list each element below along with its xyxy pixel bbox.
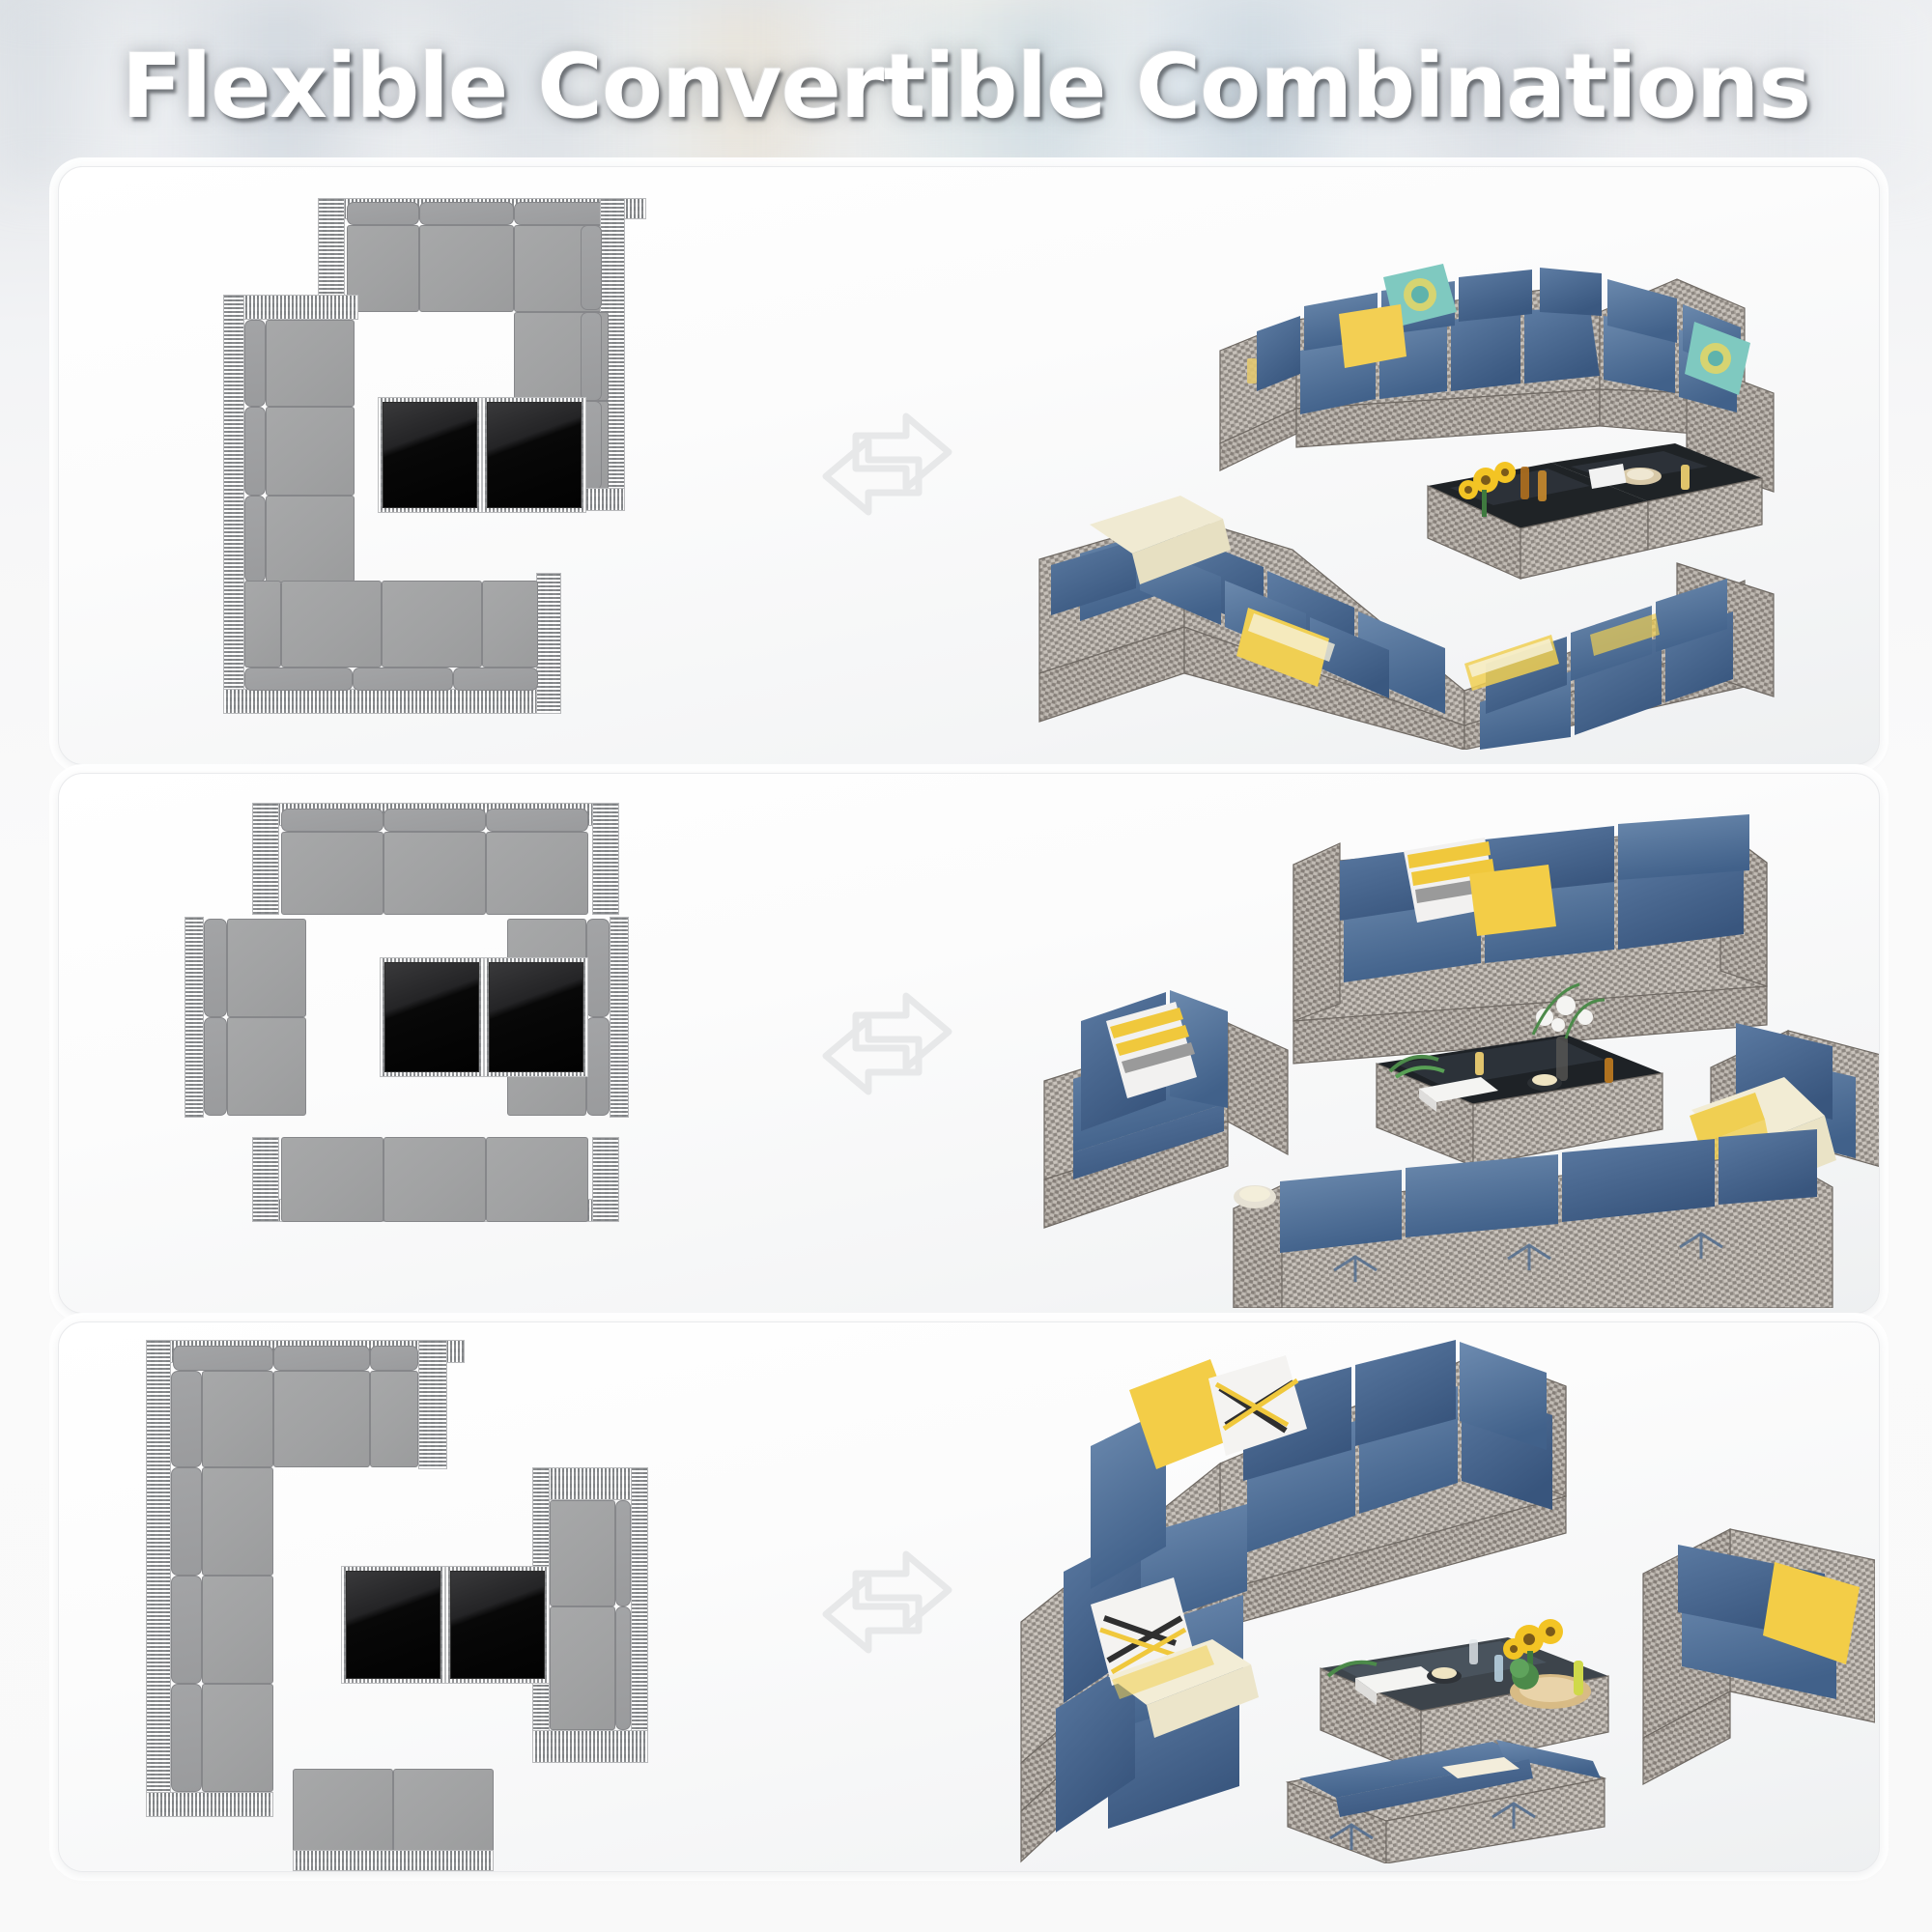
wicker-rail (146, 1340, 171, 1815)
back-cushion (281, 809, 384, 832)
wicker-rail (293, 1850, 494, 1871)
coffee-table-frame (482, 397, 586, 513)
coffee-table-frame (378, 397, 482, 513)
ottoman-cushion (393, 1769, 494, 1854)
glass-tabletop (384, 962, 479, 1072)
back-cushion (453, 668, 538, 691)
back-cushion (370, 1346, 418, 1371)
back-cushion (273, 1346, 370, 1371)
back-cushion (586, 919, 610, 1017)
seat-cushion (227, 1017, 306, 1116)
back-cushion (615, 1500, 631, 1606)
coffee-table-frame (445, 1566, 550, 1684)
wicker-rail (532, 1730, 648, 1763)
back-cushion (347, 202, 419, 225)
seat-cushion (281, 581, 382, 668)
wicker-rail (223, 295, 244, 714)
ottoman-cushion (293, 1769, 393, 1854)
glass-tabletop (450, 1571, 545, 1679)
wicker-rail (631, 1467, 648, 1763)
back-cushion (581, 225, 602, 310)
seat-cushion (382, 581, 482, 668)
glass-tabletop (487, 402, 582, 508)
wicker-rail (185, 917, 204, 1118)
seat-cushion (281, 832, 384, 915)
combination-panel-1 (58, 166, 1880, 765)
seat-cushion (550, 1500, 615, 1606)
wicker-rail (592, 1137, 619, 1222)
product-photo-four-side (986, 781, 1880, 1308)
page-title: Flexible Convertible Combinations (0, 35, 1932, 138)
wicker-rail (252, 1137, 279, 1222)
back-cushion (581, 312, 602, 401)
seat-cushion (227, 919, 306, 1017)
wicker-rail (146, 1792, 273, 1817)
wicker-rail (418, 1340, 447, 1469)
back-cushion (204, 919, 227, 1017)
seat-cushion (266, 496, 355, 582)
back-cushion (419, 202, 514, 225)
glass-tabletop (489, 962, 583, 1072)
two-way-exchange-arrow-icon (817, 1547, 957, 1658)
glass-tabletop (346, 1571, 440, 1679)
back-cushion (244, 668, 353, 691)
seat-cushion (266, 320, 355, 407)
two-way-exchange-arrow-icon (817, 409, 957, 520)
back-cushion (514, 202, 609, 225)
back-cushion (244, 496, 266, 582)
back-cushion (171, 1684, 202, 1792)
back-cushion (204, 1017, 227, 1116)
seat-cushion (202, 1371, 273, 1467)
product-photo-l-shape-ottomans (967, 1332, 1875, 1863)
back-cushion (171, 1467, 202, 1576)
seat-cushion (202, 1467, 273, 1576)
wicker-rail (223, 689, 561, 714)
back-cushion (586, 1017, 610, 1116)
back-cushion (353, 668, 453, 691)
wicker-rail (592, 803, 619, 915)
seat-cushion (419, 225, 514, 312)
back-cushion (173, 1346, 273, 1371)
back-cushion (244, 407, 266, 496)
back-cushion (244, 320, 266, 407)
back-cushion (615, 1606, 631, 1730)
combination-panel-3 (58, 1321, 1880, 1872)
seat-cushion (486, 1137, 588, 1222)
combination-panel-2 (58, 773, 1880, 1314)
two-way-exchange-arrow-icon (817, 988, 957, 1099)
seat-cushion (244, 581, 281, 668)
back-cushion (171, 1371, 202, 1467)
seat-cushion (202, 1576, 273, 1684)
coffee-table-frame (484, 957, 588, 1077)
seat-cushion (281, 1137, 384, 1222)
coffee-table-frame (380, 957, 484, 1077)
back-cushion (384, 809, 486, 832)
seat-cushion (266, 407, 355, 496)
seat-cushion (273, 1371, 370, 1467)
seat-cushion (370, 1371, 418, 1467)
wicker-rail (610, 917, 629, 1118)
seat-cushion (486, 832, 588, 915)
seat-cushion (384, 1137, 486, 1222)
product-photo-u-shape (1010, 185, 1880, 750)
seat-cushion (384, 832, 486, 915)
seat-cushion (202, 1684, 273, 1792)
back-cushion (486, 809, 588, 832)
glass-tabletop (383, 402, 477, 508)
wicker-rail (252, 803, 279, 915)
back-cushion (171, 1576, 202, 1684)
seat-cushion (482, 581, 538, 668)
seat-cushion (550, 1606, 615, 1730)
wicker-rail (536, 573, 561, 714)
coffee-table-frame (341, 1566, 445, 1684)
